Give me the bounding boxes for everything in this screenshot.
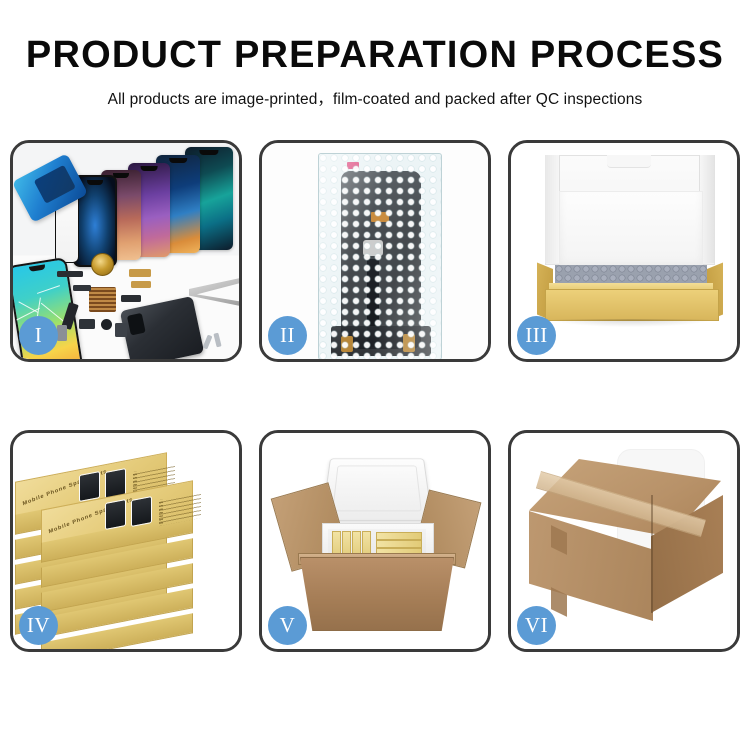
step-badge-4: IV [19,606,58,645]
box-lid-fold-left [545,155,560,263]
page-title: PRODUCT PREPARATION PROCESS [0,0,750,76]
step-badge-6: VI [517,606,556,645]
kraft-box-front-1-screen-b [131,496,152,527]
part-connector-5 [79,319,95,329]
kraft-box-flat-2 [376,540,422,548]
part-flex-2 [129,269,151,277]
process-step-panel-1: I [10,140,242,362]
bubble-wrap-bag-icon [318,153,442,359]
part-flex-3 [131,281,151,288]
part-bracket-12 [121,295,141,302]
page-subtitle: All products are image-printed，film-coat… [0,76,750,109]
process-step-grid: I II [10,140,740,675]
process-step-panel-6: VI [508,430,740,652]
bubble-texture [319,154,441,359]
box-drop-shadow [551,319,711,327]
process-step-panel-4: Mobile Phone Spare Parts Mobile Phone Sp… [10,430,242,652]
process-step-panel-3: III [508,140,740,362]
kraft-tray-front-icon [545,289,719,321]
speaker-coil-part-icon [91,253,114,276]
header: PRODUCT PREPARATION PROCESS All products… [0,0,750,126]
part-bracket-11 [73,285,91,291]
ic-chip-part-icon [89,287,116,312]
kraft-box-flat-1 [376,532,422,540]
step-badge-1: I [19,316,58,355]
part-camera-8 [115,323,127,337]
kraft-box-front-1-screen-a [105,499,126,530]
white-foam-sheet-icon [559,191,703,271]
process-step-panel-5: V [259,430,491,652]
process-step-panel-2: II [259,140,491,362]
product-preparation-infographic: PRODUCT PREPARATION PROCESS All products… [0,0,750,750]
carton-body-icon [300,557,454,631]
step-badge-3: III [517,316,556,355]
part-tray-7 [57,325,67,341]
part-button-6 [101,319,112,330]
kraft-box-back-1-screen-a [79,471,100,502]
box-lid-tab [607,155,651,168]
part-ribbon-1 [57,271,83,277]
carton-vertical-edge [651,495,653,613]
step-badge-2: II [268,316,307,355]
foam-box-lid-icon [321,458,433,521]
step-badge-5: V [268,606,307,645]
